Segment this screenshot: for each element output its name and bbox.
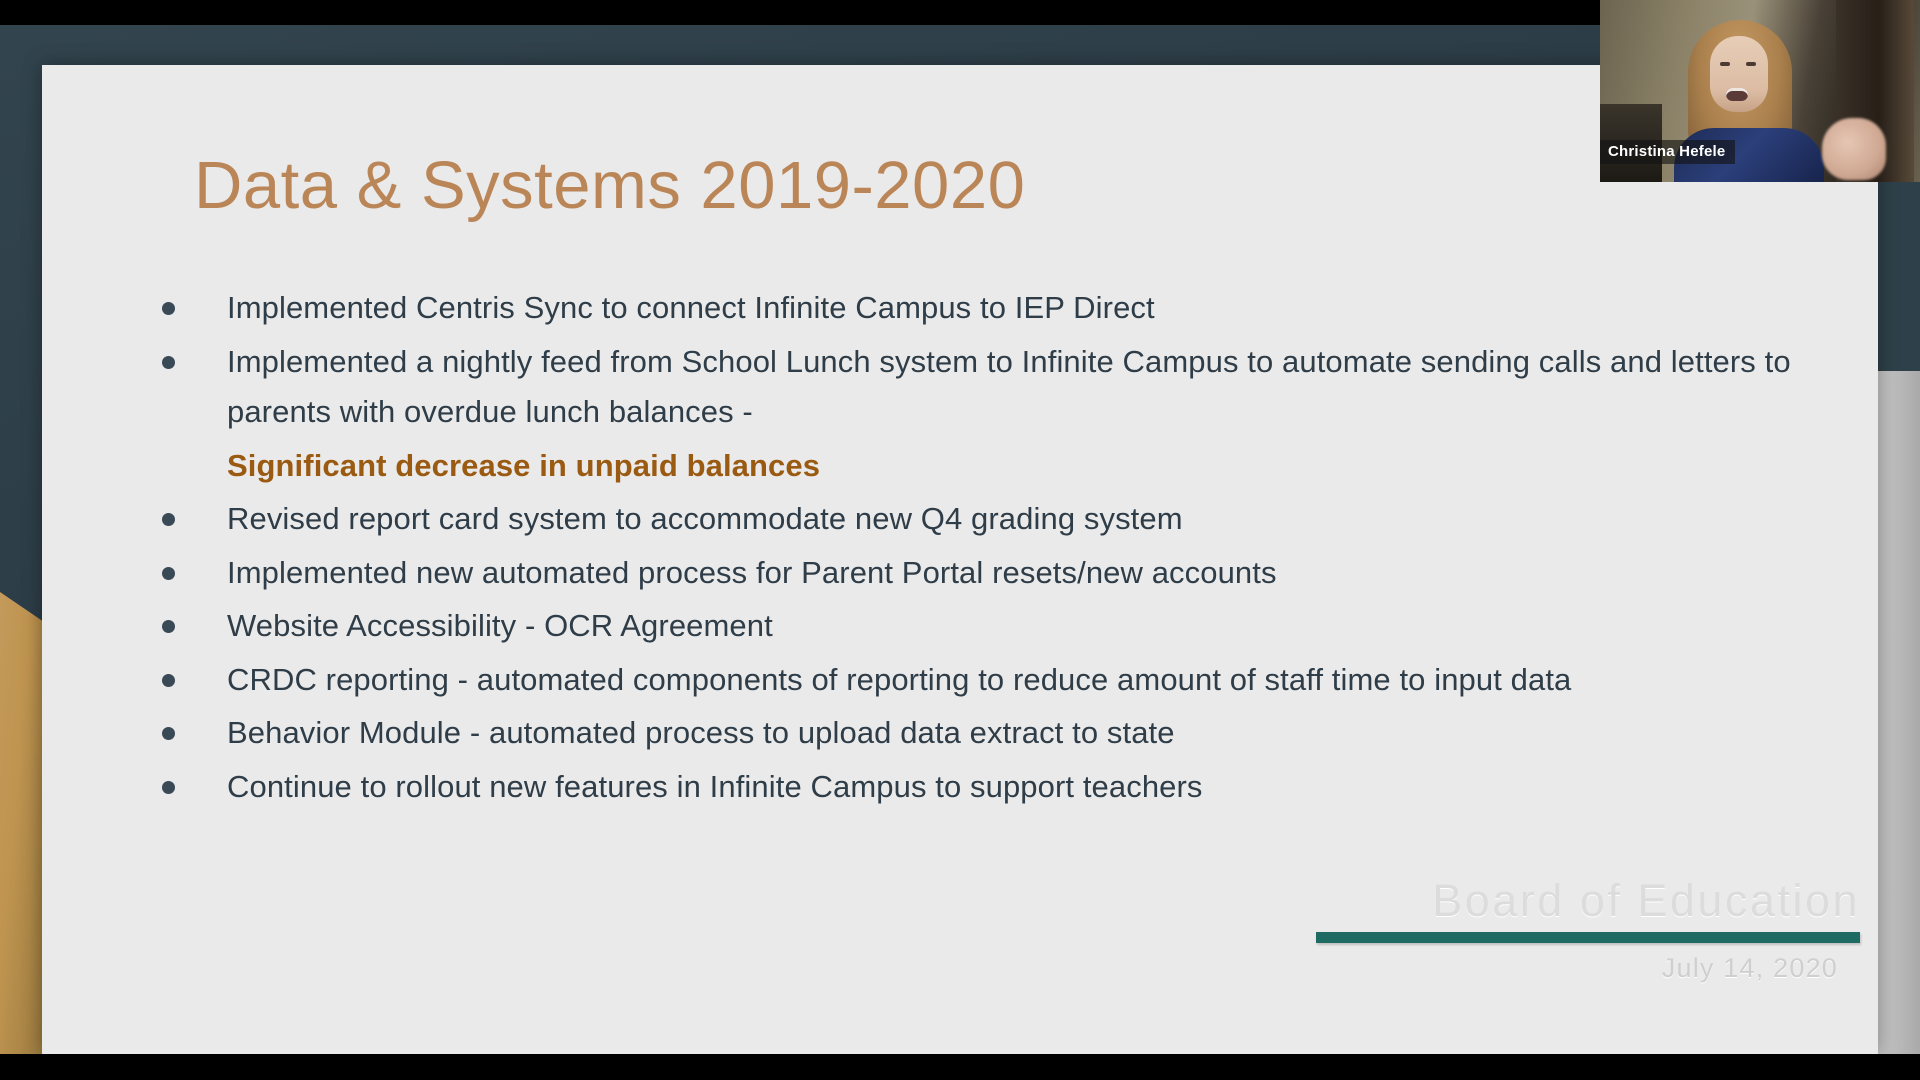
list-item: Implemented Centris Sync to connect Infi… — [162, 283, 1822, 334]
bullet-list: Implemented Centris Sync to connect Infi… — [162, 283, 1822, 815]
slide-card: Data & Systems 2019-2020 Implemented Cen… — [42, 65, 1878, 1054]
webcam-video-tile[interactable]: Christina Hefele — [1600, 0, 1920, 182]
webcam-person-hand — [1822, 118, 1886, 180]
bullet-dot-icon — [162, 513, 175, 526]
presentation-screen: Data & Systems 2019-2020 Implemented Cen… — [0, 0, 1920, 1080]
list-item: Implemented a nightly feed from School L… — [162, 337, 1822, 438]
list-item: Behavior Module - automated process to u… — [162, 708, 1822, 759]
list-item-emphasis: Significant decrease in unpaid balances — [162, 441, 1822, 492]
slide-footer: Board of Education July 14, 2020 — [1300, 877, 1860, 984]
letterbox-bottom — [0, 1054, 1920, 1080]
list-item: Website Accessibility - OCR Agreement — [162, 601, 1822, 652]
webcam-person-eye-left — [1720, 62, 1730, 66]
webcam-person-mouth — [1726, 88, 1748, 101]
page-title: Data & Systems 2019-2020 — [194, 147, 1025, 224]
bullet-dot-icon — [162, 620, 175, 633]
bullet-dot-icon — [162, 781, 175, 794]
list-item-label: Behavior Module - automated process to u… — [227, 708, 1822, 759]
list-item-label: Significant decrease in unpaid balances — [227, 441, 1822, 492]
list-item-label: Website Accessibility - OCR Agreement — [227, 601, 1822, 652]
bullet-dot-icon — [162, 674, 175, 687]
list-item-label: Revised report card system to accommodat… — [227, 494, 1822, 545]
footer-date: July 14, 2020 — [1300, 953, 1860, 984]
list-item-label: Implemented a nightly feed from School L… — [227, 337, 1822, 438]
bullet-dot-icon — [162, 727, 175, 740]
bullet-dot-icon — [162, 302, 175, 315]
footer-organization: Board of Education — [1300, 877, 1860, 924]
list-item-label: Implemented new automated process for Pa… — [227, 548, 1822, 599]
list-item: Revised report card system to accommodat… — [162, 494, 1822, 545]
bullet-dot-icon — [162, 356, 175, 369]
list-item-label: CRDC reporting - automated components of… — [227, 655, 1822, 706]
list-item-label: Continue to rollout new features in Infi… — [227, 762, 1822, 813]
webcam-person-eye-right — [1746, 62, 1756, 66]
footer-divider — [1316, 932, 1860, 943]
list-item-label: Implemented Centris Sync to connect Infi… — [227, 283, 1822, 334]
bullet-dot-icon — [162, 567, 175, 580]
list-item: CRDC reporting - automated components of… — [162, 655, 1822, 706]
participant-name-label: Christina Hefele — [1600, 140, 1735, 164]
list-item: Implemented new automated process for Pa… — [162, 548, 1822, 599]
list-item: Continue to rollout new features in Infi… — [162, 762, 1822, 813]
gold-accent-wedge — [0, 570, 44, 1054]
